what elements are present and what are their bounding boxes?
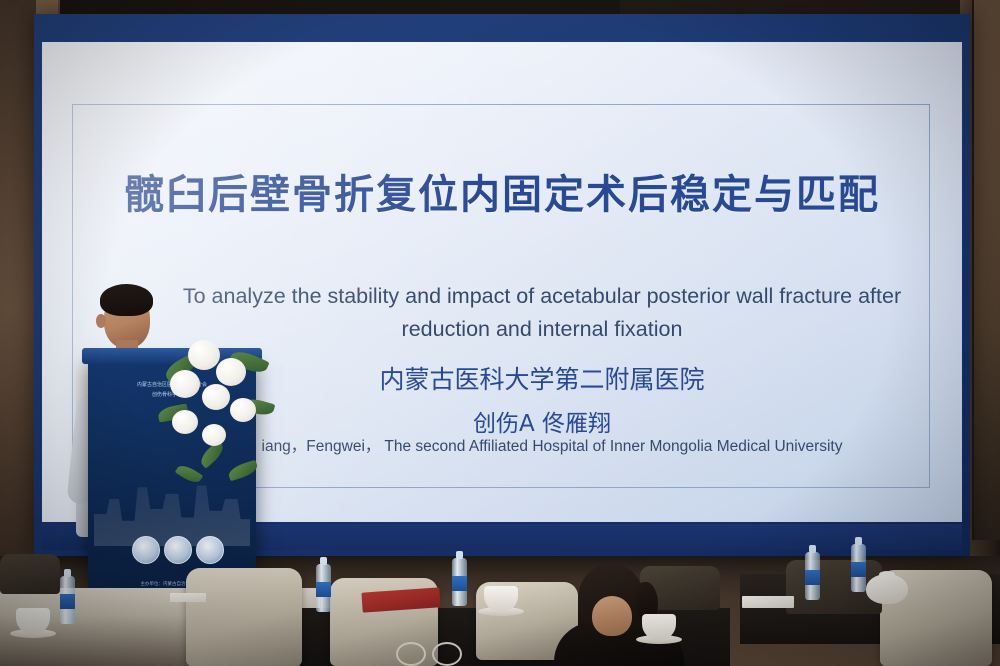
- right-wall-column: [972, 0, 1000, 540]
- water-bottle: [316, 564, 331, 612]
- flower-blossom: [202, 384, 230, 410]
- bottle-label: [452, 576, 467, 591]
- bottle-label: [60, 594, 75, 609]
- slide-subtitle-line1: To analyze the stability and impact of a…: [142, 280, 942, 313]
- paper-sheet: [742, 596, 794, 608]
- podium-logo-icon: [164, 536, 192, 564]
- flower-blossom: [230, 398, 256, 422]
- speaker-ear: [96, 314, 106, 328]
- bottle-label: [805, 570, 820, 585]
- eyeglasses-icon: [396, 642, 460, 664]
- flower-blossom: [172, 410, 198, 434]
- water-bottle: [452, 558, 467, 606]
- bottle-label: [851, 562, 866, 577]
- bottle-label: [316, 582, 331, 597]
- water-bottle: [805, 552, 820, 600]
- left-wall-panel: [0, 0, 38, 560]
- water-bottle: [851, 544, 866, 592]
- teapot: [866, 574, 908, 604]
- conference-photo: 髋臼后壁骨折复位内固定术后稳定与匹配 To analyze the stabil…: [0, 0, 1000, 666]
- attendee-face: [592, 596, 632, 636]
- flower-blossom: [202, 424, 226, 446]
- slide-title: 髋臼后壁骨折复位内固定术后稳定与匹配: [102, 162, 902, 220]
- flower-blossom: [216, 358, 246, 386]
- paper-sheet: [170, 593, 206, 602]
- teapot-lid: [879, 571, 895, 578]
- chair-dark: [0, 554, 60, 594]
- eyeglasses-lens-left: [396, 642, 426, 666]
- speaker-hair: [100, 284, 153, 316]
- flower-arrangement: [158, 336, 276, 526]
- podium-logo-icon: [132, 536, 160, 564]
- leaf: [227, 460, 260, 482]
- flower-blossom: [188, 340, 220, 370]
- chair: [186, 568, 302, 666]
- leaf: [175, 462, 203, 486]
- podium-logo-icon: [196, 536, 224, 564]
- water-bottle: [60, 576, 75, 624]
- flower-blossom: [170, 370, 200, 398]
- eyeglasses-lens-right: [432, 642, 462, 666]
- attendee: [548, 556, 698, 666]
